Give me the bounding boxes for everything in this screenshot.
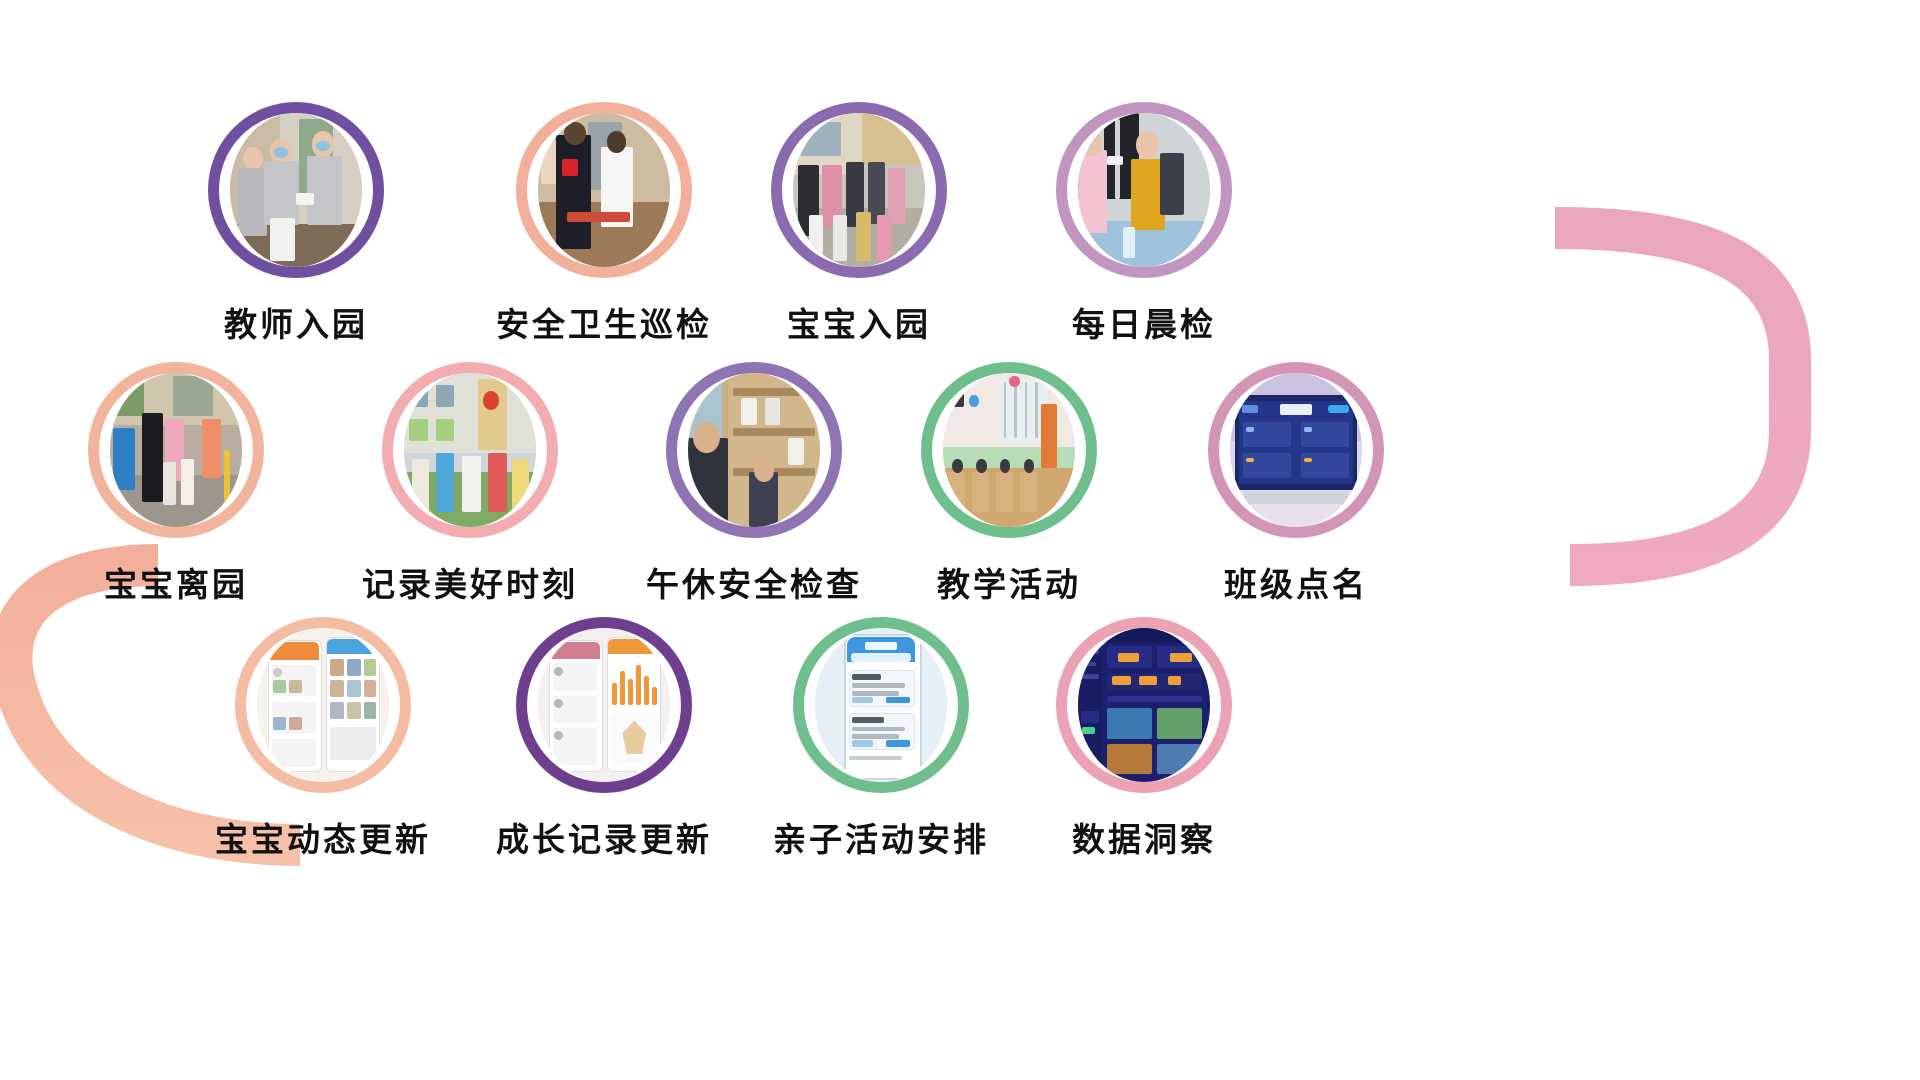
node-label: 数据洞察 (1072, 813, 1216, 861)
nap-safety-check-photo (688, 373, 820, 527)
flow-node-data-insight[interactable]: 数据洞察 (1056, 617, 1232, 861)
data-insight-photo (1078, 628, 1210, 782)
node-ring (88, 362, 264, 538)
node-label: 亲子活动安排 (773, 813, 989, 861)
flow-node-parent-child-activity[interactable]: 亲子活动安排 (773, 617, 989, 861)
parent-child-activity-photo (815, 628, 947, 782)
flow-node-child-arrival[interactable]: 宝宝入园 (771, 102, 947, 346)
node-ring (1208, 362, 1384, 538)
node-ring (666, 362, 842, 538)
node-ring (516, 102, 692, 278)
flow-node-morning-check[interactable]: 每日晨检 (1056, 102, 1232, 346)
node-ring (921, 362, 1097, 538)
node-ring (771, 102, 947, 278)
node-ring (516, 617, 692, 793)
flow-node-growth-record-update[interactable]: 成长记录更新 (496, 617, 712, 861)
node-label: 宝宝离园 (104, 558, 248, 606)
node-ring (793, 617, 969, 793)
flow-node-record-moments[interactable]: 记录美好时刻 (362, 362, 578, 606)
baby-feed-update-photo (257, 628, 389, 782)
flow-node-baby-feed-update[interactable]: 宝宝动态更新 (215, 617, 431, 861)
node-label: 安全卫生巡检 (496, 298, 712, 346)
flow-node-safety-inspection[interactable]: 安全卫生巡检 (496, 102, 712, 346)
node-label: 成长记录更新 (496, 813, 712, 861)
node-label: 教师入园 (224, 298, 368, 346)
flow-node-teacher-arrival[interactable]: 教师入园 (208, 102, 384, 346)
node-ring (235, 617, 411, 793)
infographic-canvas: 教师入园 安全卫生巡检 (0, 0, 1920, 1080)
node-label: 宝宝入园 (787, 298, 931, 346)
children-leaving-photo (110, 373, 242, 527)
teaching-activity-photo (943, 373, 1075, 527)
daily-morning-check-photo (1078, 113, 1210, 267)
node-ring (382, 362, 558, 538)
node-ring (1056, 617, 1232, 793)
node-ring (1056, 102, 1232, 278)
node-label: 宝宝动态更新 (215, 813, 431, 861)
record-happy-moments-photo (404, 373, 536, 527)
safety-hygiene-inspection-photo (538, 113, 670, 267)
flow-node-nap-safety-check[interactable]: 午休安全检查 (646, 362, 862, 606)
flow-node-child-leaving[interactable]: 宝宝离园 (88, 362, 264, 606)
node-ring (208, 102, 384, 278)
flow-node-class-roll-call[interactable]: 班级点名 (1208, 362, 1384, 606)
node-label: 记录美好时刻 (362, 558, 578, 606)
class-roll-call-photo (1230, 373, 1362, 527)
node-label: 教学活动 (937, 558, 1081, 606)
flow-node-teaching-activity[interactable]: 教学活动 (921, 362, 1097, 606)
teacher-arrival-photo (230, 113, 362, 267)
node-label: 每日晨检 (1072, 298, 1216, 346)
node-label: 午休安全检查 (646, 558, 862, 606)
growth-record-update-photo (538, 628, 670, 782)
node-label: 班级点名 (1224, 558, 1368, 606)
children-arrival-photo (793, 113, 925, 267)
